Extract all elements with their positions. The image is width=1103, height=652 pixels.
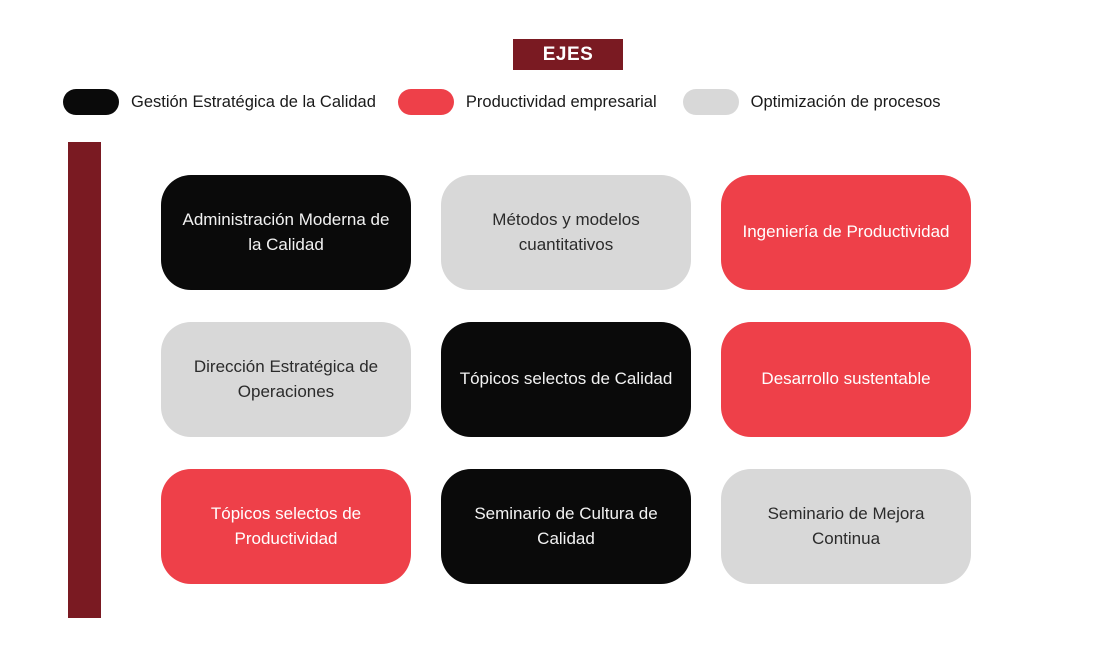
page-title: EJES <box>543 45 594 64</box>
legend-item-gestion-estrategica-calidad: Gestión Estratégica de la Calidad <box>63 89 376 115</box>
legend-item-optimizacion-procesos: Optimización de procesos <box>683 89 941 115</box>
legend-swatch-gray-icon <box>683 89 739 115</box>
course-card-grid: Administración Moderna de la Calidad Mét… <box>161 175 972 584</box>
card-ingenieria-productividad[interactable]: Ingeniería de Productividad <box>721 175 971 290</box>
card-administracion-moderna-calidad[interactable]: Administración Moderna de la Calidad <box>161 175 411 290</box>
card-label: Desarrollo sustentable <box>761 367 930 391</box>
legend-label: Gestión Estratégica de la Calidad <box>131 93 376 112</box>
left-accent-bar <box>68 142 101 618</box>
card-direccion-estrategica-operaciones[interactable]: Dirección Estratégica de Operaciones <box>161 322 411 437</box>
card-seminario-mejora-continua[interactable]: Seminario de Mejora Continua <box>721 469 971 584</box>
card-metodos-modelos-cuantitativos[interactable]: Métodos y modelos cuantitativos <box>441 175 691 290</box>
legend-item-productividad-empresarial: Productividad empresarial <box>398 89 657 115</box>
card-label: Métodos y modelos cuantitativos <box>459 208 673 256</box>
legend-swatch-red-icon <box>398 89 454 115</box>
card-desarrollo-sustentable[interactable]: Desarrollo sustentable <box>721 322 971 437</box>
card-label: Tópicos selectos de Calidad <box>460 367 673 391</box>
card-label: Seminario de Mejora Continua <box>739 502 953 550</box>
legend: Gestión Estratégica de la Calidad Produc… <box>63 86 1013 118</box>
card-label: Administración Moderna de la Calidad <box>179 208 393 256</box>
card-seminario-cultura-calidad[interactable]: Seminario de Cultura de Calidad <box>441 469 691 584</box>
legend-swatch-black-icon <box>63 89 119 115</box>
card-label: Dirección Estratégica de Operaciones <box>179 355 393 403</box>
card-topicos-selectos-calidad[interactable]: Tópicos selectos de Calidad <box>441 322 691 437</box>
card-label: Seminario de Cultura de Calidad <box>459 502 673 550</box>
card-label: Ingeniería de Productividad <box>743 220 950 244</box>
card-label: Tópicos selectos de Productividad <box>179 502 393 550</box>
legend-label: Optimización de procesos <box>751 93 941 112</box>
page-title-banner: EJES <box>513 39 623 70</box>
card-topicos-selectos-productividad[interactable]: Tópicos selectos de Productividad <box>161 469 411 584</box>
legend-label: Productividad empresarial <box>466 93 657 112</box>
